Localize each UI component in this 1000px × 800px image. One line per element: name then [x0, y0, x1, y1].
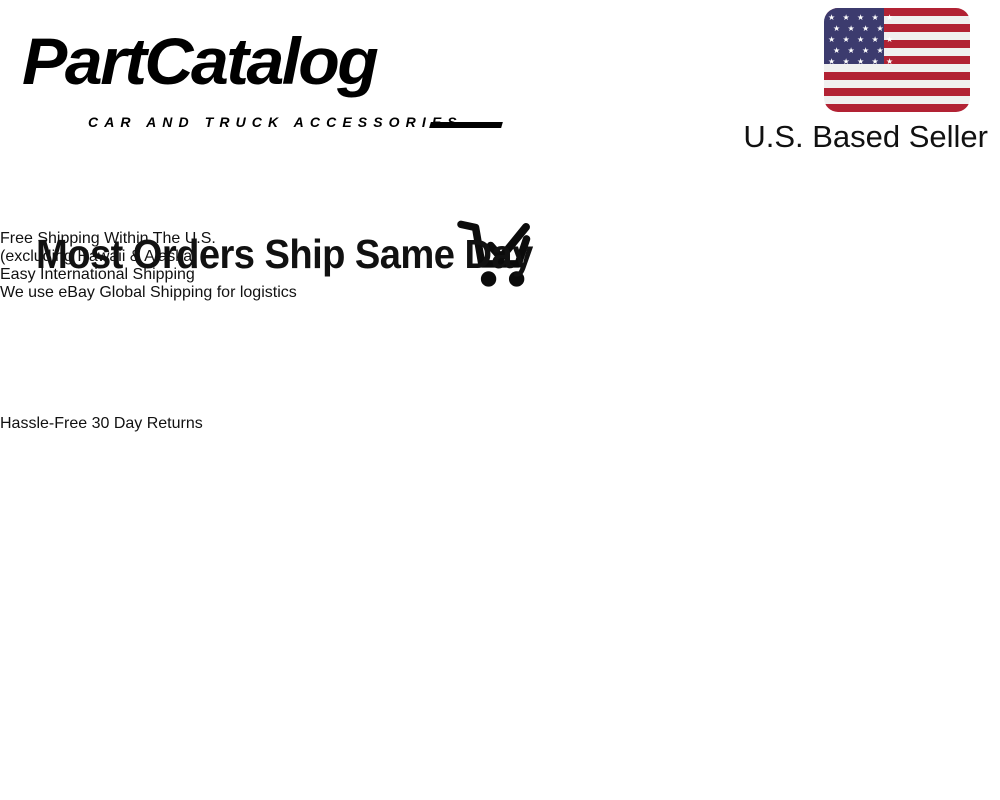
flag-star-row: ★ ★ ★ ★ ★ [828, 56, 884, 67]
us-based-seller-label: U.S. Based Seller [688, 118, 988, 156]
feature-row-returns: Hassle-Free 30 Day Returns [0, 415, 1000, 580]
feature-subhead-detail: We use eBay Global Shipping for logistic… [0, 284, 297, 302]
page-header: PartCatalog CAR AND TRUCK ACCESSORIES ★ … [0, 0, 1000, 175]
flag-star-row: ★ ★ ★ ★ ★ [828, 34, 884, 45]
flag-star-row: ★ ★ ★ ★ [828, 23, 884, 34]
us-based-seller-badge: ★ ★ ★ ★ ★ ★ ★ ★ ★ ★ ★ ★ ★ ★ ★ ★ ★ ★ ★ ★ … [688, 8, 988, 158]
feature-headline: Most Orders Ship Same Day [36, 230, 933, 278]
us-flag-icon: ★ ★ ★ ★ ★ ★ ★ ★ ★ ★ ★ ★ ★ ★ ★ ★ ★ ★ ★ ★ … [824, 8, 970, 112]
feature-row-same-day-ship: Most Orders Ship Same Day [0, 230, 1000, 278]
feature-text-same-day-ship: Most Orders Ship Same Day [0, 230, 1000, 278]
brand-wordmark: PartCatalog [22, 24, 376, 98]
flag-star-row: ★ ★ ★ ★ ★ [828, 12, 884, 23]
feature-text-returns: Hassle-Free 30 Day Returns [0, 415, 203, 433]
brand-underline-accent [429, 122, 503, 128]
flag-stars: ★ ★ ★ ★ ★ ★ ★ ★ ★ ★ ★ ★ ★ ★ ★ ★ ★ ★ ★ ★ … [824, 8, 884, 64]
flag-star-row: ★ ★ ★ ★ [828, 45, 884, 56]
promo-banner-page: PartCatalog CAR AND TRUCK ACCESSORIES ★ … [0, 0, 1000, 800]
feature-headline: Hassle-Free 30 Day Returns [0, 415, 203, 433]
brand-tagline: CAR AND TRUCK ACCESSORIES [88, 114, 463, 130]
brand-logo[interactable]: PartCatalog CAR AND TRUCK ACCESSORIES [22, 24, 492, 119]
